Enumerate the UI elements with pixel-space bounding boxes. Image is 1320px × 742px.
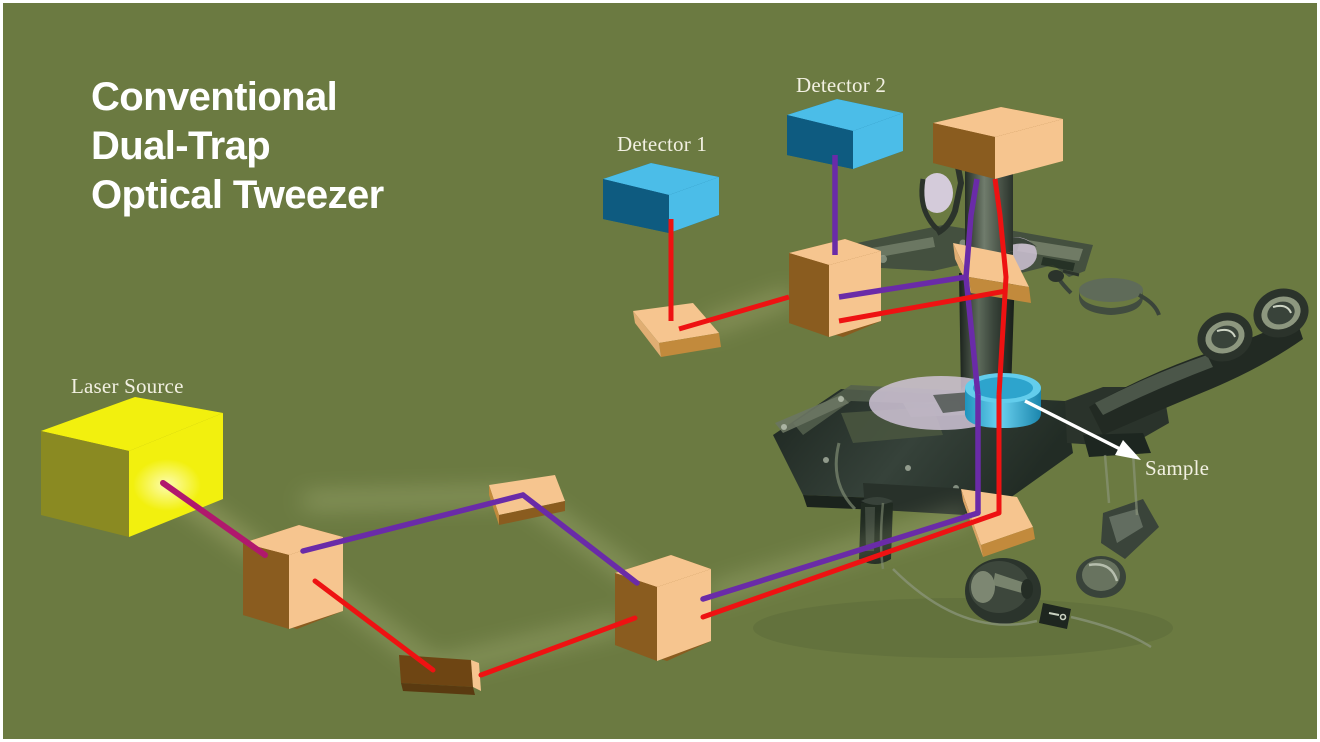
- detector-1-box: [603, 163, 719, 233]
- focus-knob: [965, 558, 1041, 624]
- mirror-detector1: [633, 303, 721, 357]
- beamsplitter-cube-2: [615, 555, 711, 661]
- beam-red-seg2: [481, 618, 635, 675]
- beam-red-seg1: [315, 581, 433, 670]
- detector-2-box: [787, 99, 903, 169]
- page-title: Conventional Dual-Trap Optical Tweezer: [91, 73, 384, 219]
- beam-purple-seg2: [523, 495, 637, 583]
- laser-source-box: [41, 397, 223, 537]
- beam-purple-seg3: [703, 513, 978, 599]
- mirror-lower: [399, 655, 481, 695]
- beamsplitter-cube-1: [243, 525, 343, 629]
- figure-canvas: Conventional Dual-Trap Optical Tweezer L…: [0, 0, 1320, 742]
- port-cap: [1079, 278, 1143, 302]
- condenser-mount-box: [933, 107, 1063, 179]
- binocular-head: [1065, 281, 1316, 515]
